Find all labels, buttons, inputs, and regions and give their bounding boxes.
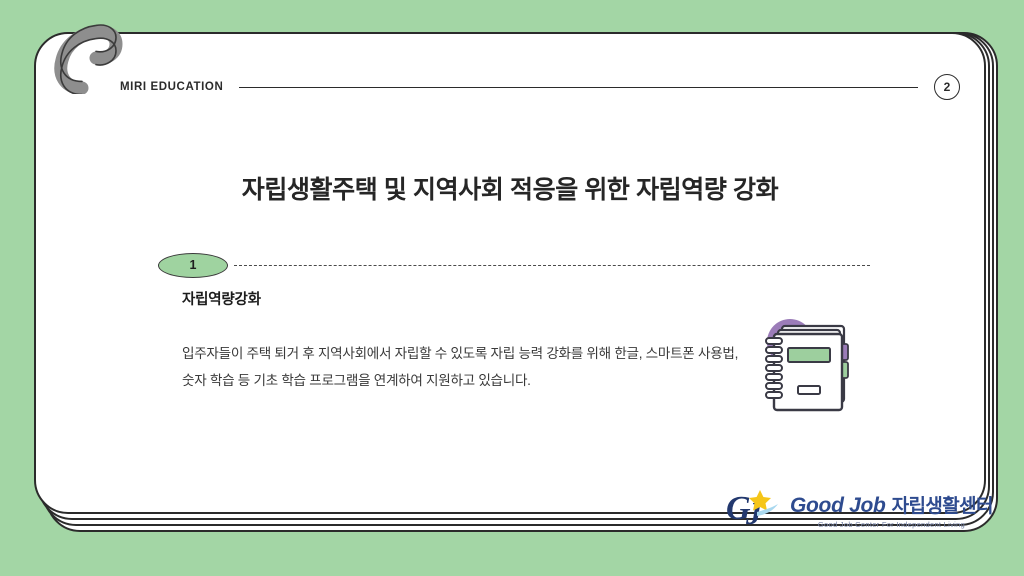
section-subtitle: 자립역량강화 — [182, 288, 261, 309]
section-marker-row: 1 — [158, 252, 870, 278]
logo-tagline: Good Job Center For Independent Living — [790, 520, 993, 529]
section-dashed-rule — [234, 265, 870, 266]
header-divider-line — [239, 87, 918, 88]
spiral-notebook-icon — [758, 312, 858, 416]
slide-card: MIRI EDUCATION 2 자립생활주택 및 지역사회 적응을 위한 자립… — [34, 32, 986, 514]
brand-label: MIRI EDUCATION — [120, 81, 223, 93]
logo-name-kr: 자립생활센터 — [892, 491, 993, 518]
page-title: 자립생활주택 및 지역사회 적응을 위한 자립역량 강화 — [36, 170, 984, 206]
slide-canvas: MIRI EDUCATION 2 자립생활주택 및 지역사회 적응을 위한 자립… — [0, 0, 1024, 576]
section-number-badge: 1 — [158, 253, 228, 278]
section-body-text: 입주자들이 주택 퇴거 후 지역사회에서 자립할 수 있도록 자립 능력 강화를… — [182, 340, 742, 394]
gj-star-logo-icon: G J — [726, 486, 784, 535]
logo-text-block: Good Job 자립생활센터 Good Job Center For Inde… — [790, 491, 993, 529]
page-number-badge: 2 — [934, 74, 960, 100]
slide-header: MIRI EDUCATION 2 — [120, 76, 960, 98]
logo-name-en: Good Job — [790, 494, 886, 518]
footer-logo: G J Good Job 자립생활센터 Good Job Center For … — [726, 484, 976, 536]
